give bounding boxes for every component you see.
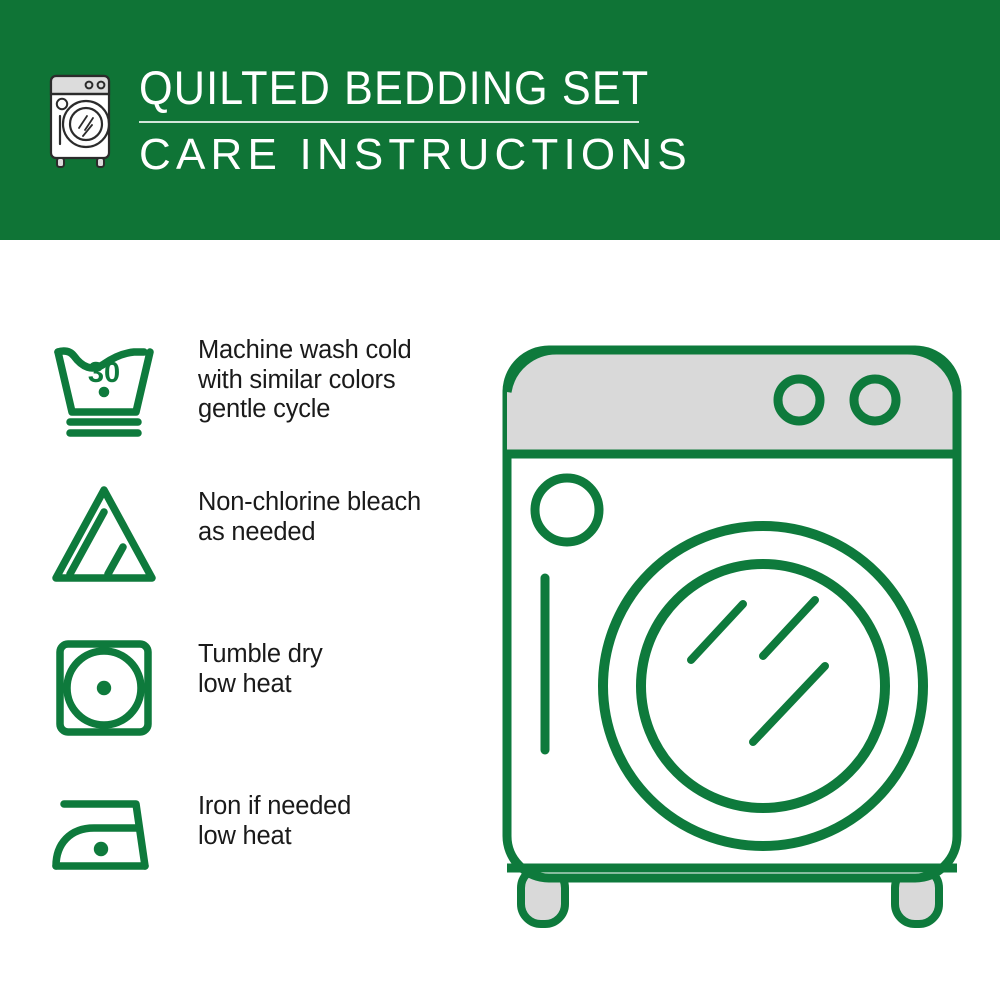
- page-title: QUILTED BEDDING SET: [139, 62, 649, 114]
- care-text-wash: Machine wash cold with similar colors ge…: [198, 330, 411, 425]
- header-title-group: QUILTED BEDDING SET CARE INSTRUCTIONS: [139, 62, 694, 180]
- care-text-tumble-dry: Tumble dry low heat: [198, 634, 323, 699]
- care-row-tumble-dry: Tumble dry low heat: [48, 634, 468, 786]
- wash-tub-30-icon: 30: [48, 330, 160, 438]
- washing-machine-illustration: [495, 330, 975, 930]
- bleach-triangle-icon: [48, 482, 160, 590]
- wash-temperature-label: 30: [88, 357, 120, 389]
- header-content: QUILTED BEDDING SET CARE INSTRUCTIONS: [45, 62, 694, 180]
- iron-icon: [48, 786, 160, 894]
- page-subtitle: CARE INSTRUCTIONS: [139, 130, 694, 180]
- care-text-bleach: Non-chlorine bleach as needed: [198, 482, 421, 547]
- care-instructions-infographic: QUILTED BEDDING SET CARE INSTRUCTIONS 30: [0, 0, 1000, 1000]
- care-instruction-list: 30 Machine wash cold with similar colors…: [48, 330, 468, 938]
- title-divider: [139, 121, 639, 123]
- care-row-wash: 30 Machine wash cold with similar colors…: [48, 330, 468, 482]
- care-row-iron: Iron if needed low heat: [48, 786, 468, 938]
- washing-machine-icon: [45, 66, 121, 170]
- tumble-dry-icon: [48, 634, 160, 742]
- care-text-iron: Iron if needed low heat: [198, 786, 351, 851]
- header-banner: QUILTED BEDDING SET CARE INSTRUCTIONS: [0, 0, 1000, 240]
- care-row-bleach: Non-chlorine bleach as needed: [48, 482, 468, 634]
